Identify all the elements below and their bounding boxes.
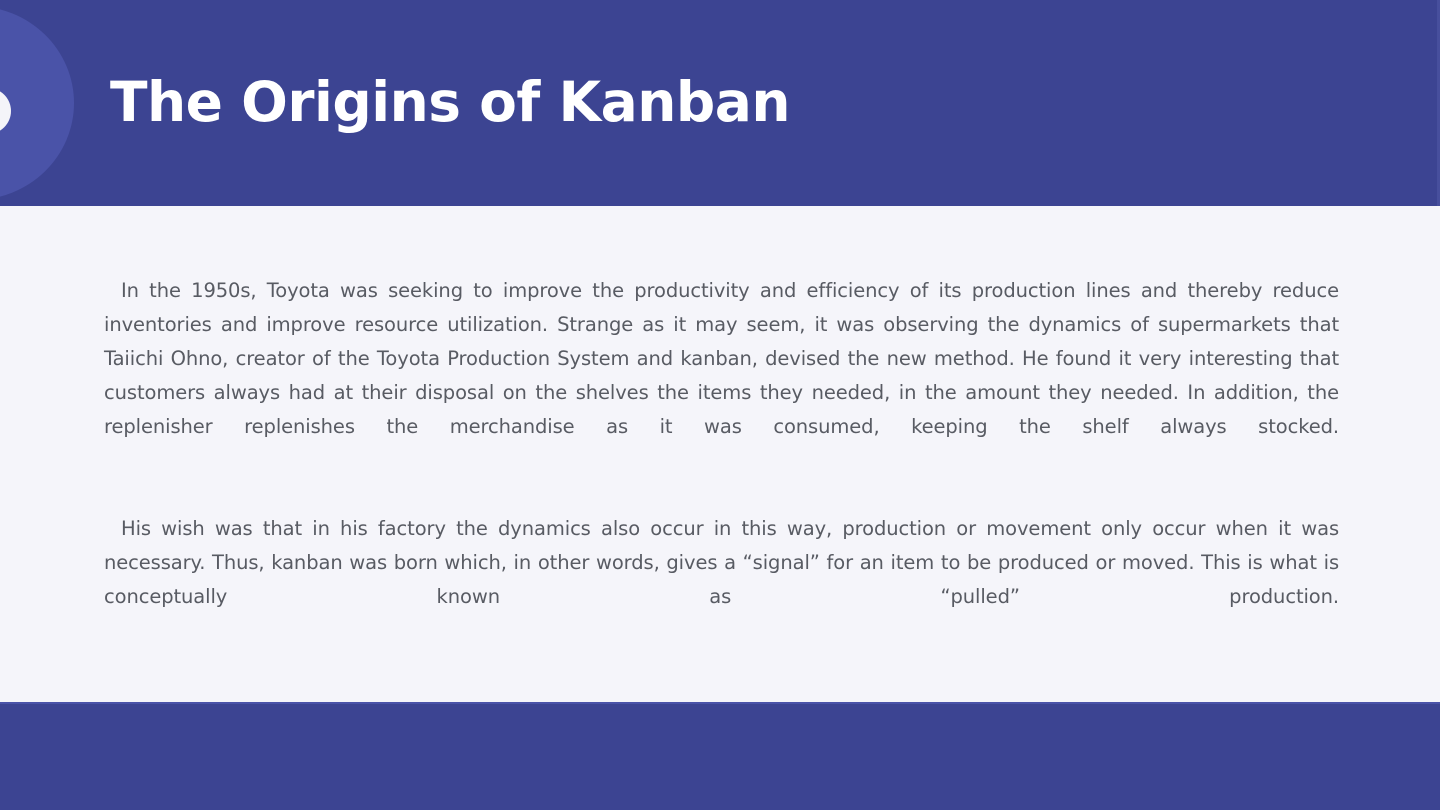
slide-footer-band <box>0 702 1440 810</box>
body-paragraph-2: His wish was that in his factory the dyn… <box>104 512 1339 648</box>
circle-bullet-icon <box>0 88 11 134</box>
slide-header-band: The Origins of Kanban <box>0 0 1440 206</box>
body-paragraph-1: In the 1950s, Toyota was seeking to impr… <box>104 274 1339 478</box>
slide-body-content: In the 1950s, Toyota was seeking to impr… <box>104 274 1339 648</box>
header-accent-shape-icon <box>0 6 74 200</box>
page-title: The Origins of Kanban <box>110 64 790 140</box>
footer-top-edge-strip <box>0 702 1440 704</box>
slide-canvas: The Origins of Kanban In the 1950s, Toyo… <box>0 0 1440 810</box>
